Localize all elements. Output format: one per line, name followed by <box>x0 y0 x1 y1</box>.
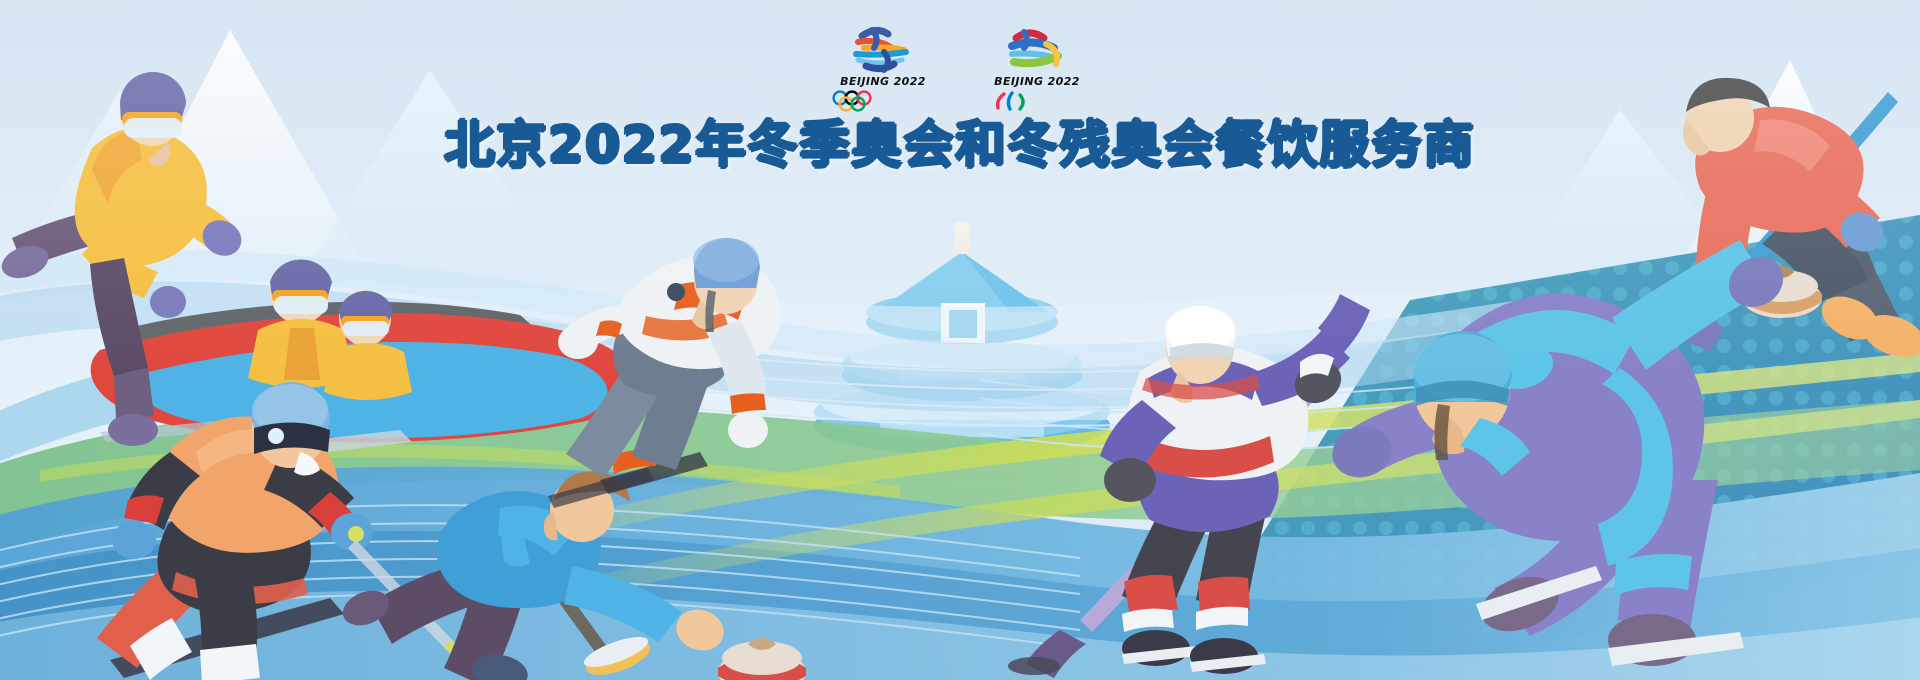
beijing-2022-winter-paralympics-emblem-icon <box>982 22 1092 74</box>
olympic-emblem-block: BEIJING 2022 <box>828 22 938 112</box>
olympic-banner: BEIJING 2022 <box>0 0 1920 680</box>
paralympic-agitos-icon <box>982 90 1052 112</box>
paralympic-emblem-block: BEIJING 2022 <box>982 22 1092 112</box>
olympic-rings-icon <box>828 90 898 112</box>
emblem-row: BEIJING 2022 <box>0 22 1920 112</box>
olympic-wordmark: BEIJING 2022 <box>828 75 938 88</box>
paralympic-wordmark: BEIJING 2022 <box>982 75 1092 88</box>
beijing-2022-winter-olympics-emblem-icon <box>828 22 938 74</box>
